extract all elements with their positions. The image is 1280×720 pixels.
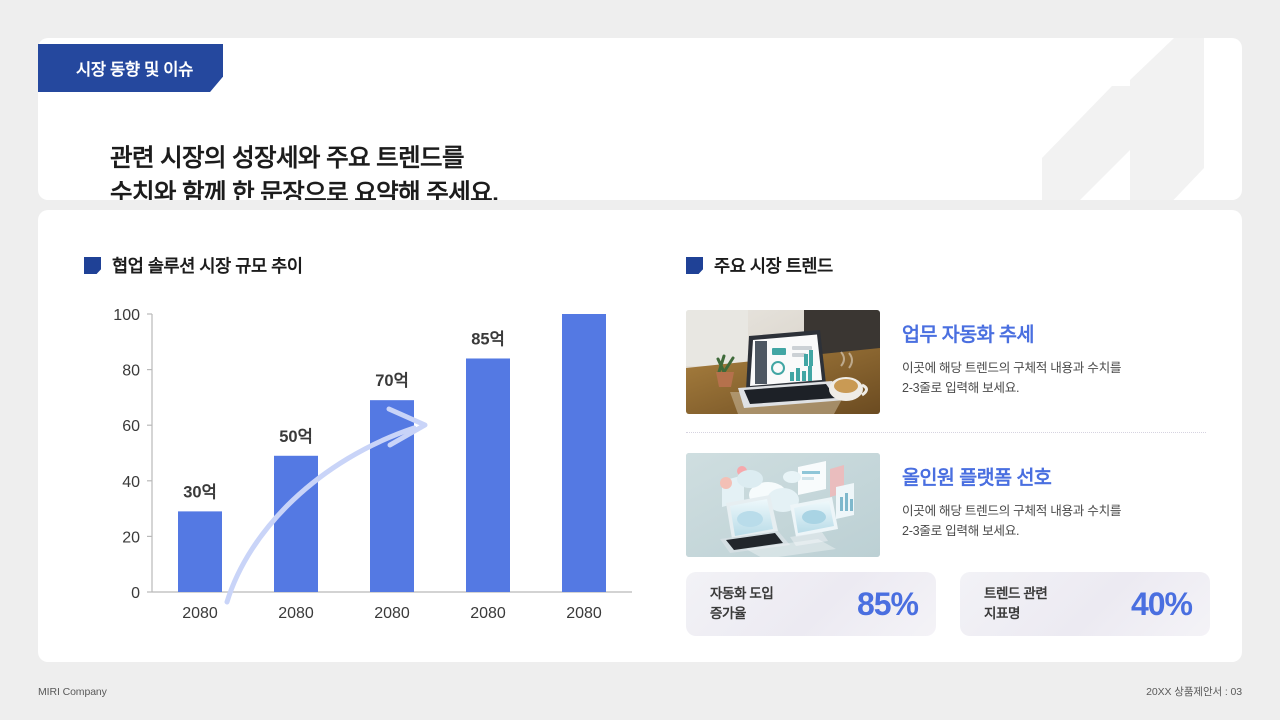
x-axis-tick-label: 2080	[278, 605, 314, 622]
y-axis-tick-label: 60	[122, 418, 140, 435]
stat-label: 자동화 도입 증가율	[710, 584, 773, 623]
trend-description-line-2: 2-3줄로 입력해 보세요.	[902, 378, 1121, 398]
y-axis-tick-label: 40	[122, 474, 140, 491]
chart-bar	[466, 358, 510, 592]
slide: 관련 시장의 성장세와 주요 트렌드를 수치와 함께 한 문장으로 요약해 주세…	[0, 0, 1280, 720]
page-title-line-1: 관련 시장의 성장세와 주요 트렌드를	[110, 142, 498, 177]
trend-panel-title: 주요 시장 트렌드	[714, 253, 833, 278]
chart-panel-title: 협업 솔루션 시장 규모 추이	[112, 253, 303, 278]
footer: MIRI Company 20XX 상품제안서 : 03	[38, 684, 1242, 699]
trend-thumbnail-cloud-platform	[686, 453, 880, 557]
trend-list-item[interactable]: 올인원 플랫폼 선호 이곳에 해당 트렌드의 구체적 내용과 수치를 2-3줄로…	[686, 432, 1206, 575]
chart-bar	[562, 314, 606, 592]
body-card: 협업 솔루션 시장 규모 추이 020406080100 30억50억70억85…	[38, 210, 1242, 662]
trend-text-block: 올인원 플랫폼 선호 이곳에 해당 트렌드의 구체적 내용과 수치를 2-3줄로…	[902, 453, 1121, 542]
trend-title: 업무 자동화 추세	[902, 318, 1121, 347]
trend-title: 올인원 플랫폼 선호	[902, 461, 1121, 490]
trend-description-line-1: 이곳에 해당 트렌드의 구체적 내용과 수치를	[902, 501, 1121, 521]
y-axis-tick-label: 80	[122, 363, 140, 380]
trend-description: 이곳에 해당 트렌드의 구체적 내용과 수치를 2-3줄로 입력해 보세요.	[902, 358, 1121, 399]
y-axis-tick-label: 20	[122, 529, 140, 546]
stat-box[interactable]: 트렌드 관련 지표명 40%	[960, 572, 1210, 636]
x-axis-tick-label: 2080	[374, 605, 410, 622]
trend-list-item[interactable]: 업무 자동화 추세 이곳에 해당 트렌드의 구체적 내용과 수치를 2-3줄로 …	[686, 310, 1206, 432]
footer-company: MIRI Company	[38, 686, 107, 698]
stat-box[interactable]: 자동화 도입 증가율 85%	[686, 572, 936, 636]
stat-value: 40%	[1131, 588, 1192, 620]
trend-description: 이곳에 해당 트렌드의 구체적 내용과 수치를 2-3줄로 입력해 보세요.	[902, 501, 1121, 542]
x-axis-tick-label: 2080	[182, 605, 218, 622]
bar-value-label: 85억	[471, 329, 505, 348]
x-axis-tick-label: 2080	[470, 605, 506, 622]
bar-value-label: 50억	[279, 427, 313, 446]
bar-chart: 020406080100 30억50억70억85억100억 2080208020…	[84, 305, 659, 643]
trend-description-line-2: 2-3줄로 입력해 보세요.	[902, 521, 1121, 541]
trend-thumbnail-laptop-dashboard	[686, 310, 880, 414]
bullet-square-icon	[84, 257, 101, 274]
chart-bar	[178, 511, 222, 592]
section-badge: 시장 동향 및 이슈	[38, 44, 223, 92]
bullet-square-icon	[686, 257, 703, 274]
trend-list: 업무 자동화 추세 이곳에 해당 트렌드의 구체적 내용과 수치를 2-3줄로 …	[686, 310, 1206, 575]
trend-panel-header: 주요 시장 트렌드	[686, 253, 1206, 278]
chart-bar	[274, 456, 318, 592]
x-axis-tick-label: 2080	[566, 605, 602, 622]
stat-label-line-1: 자동화 도입	[710, 584, 773, 604]
footer-page-info: 20XX 상품제안서 : 03	[1146, 684, 1242, 699]
bar-value-label: 30억	[183, 482, 217, 501]
stat-label-line-2: 증가율	[710, 604, 773, 624]
y-axis-tick-label: 100	[113, 307, 140, 324]
page-title: 관련 시장의 성장세와 주요 트렌드를 수치와 함께 한 문장으로 요약해 주세…	[110, 142, 498, 200]
chart-panel: 협업 솔루션 시장 규모 추이 020406080100 30억50억70억85…	[84, 253, 659, 643]
stat-label-line-1: 트렌드 관련	[984, 584, 1047, 604]
trend-text-block: 업무 자동화 추세 이곳에 해당 트렌드의 구체적 내용과 수치를 2-3줄로 …	[902, 310, 1121, 399]
bar-value-label: 70억	[375, 371, 409, 390]
stat-boxes: 자동화 도입 증가율 85% 트렌드 관련 지표명 40%	[686, 572, 1210, 636]
y-axis-tick-label: 0	[131, 585, 140, 602]
stat-label: 트렌드 관련 지표명	[984, 584, 1047, 623]
chart-panel-header: 협업 솔루션 시장 규모 추이	[84, 253, 659, 278]
stat-value: 85%	[857, 588, 918, 620]
brand-watermark-logo	[1034, 38, 1234, 200]
stat-label-line-2: 지표명	[984, 604, 1047, 624]
page-title-line-2: 수치와 함께 한 문장으로 요약해 주세요.	[110, 177, 498, 200]
trend-description-line-1: 이곳에 해당 트렌드의 구체적 내용과 수치를	[902, 358, 1121, 378]
